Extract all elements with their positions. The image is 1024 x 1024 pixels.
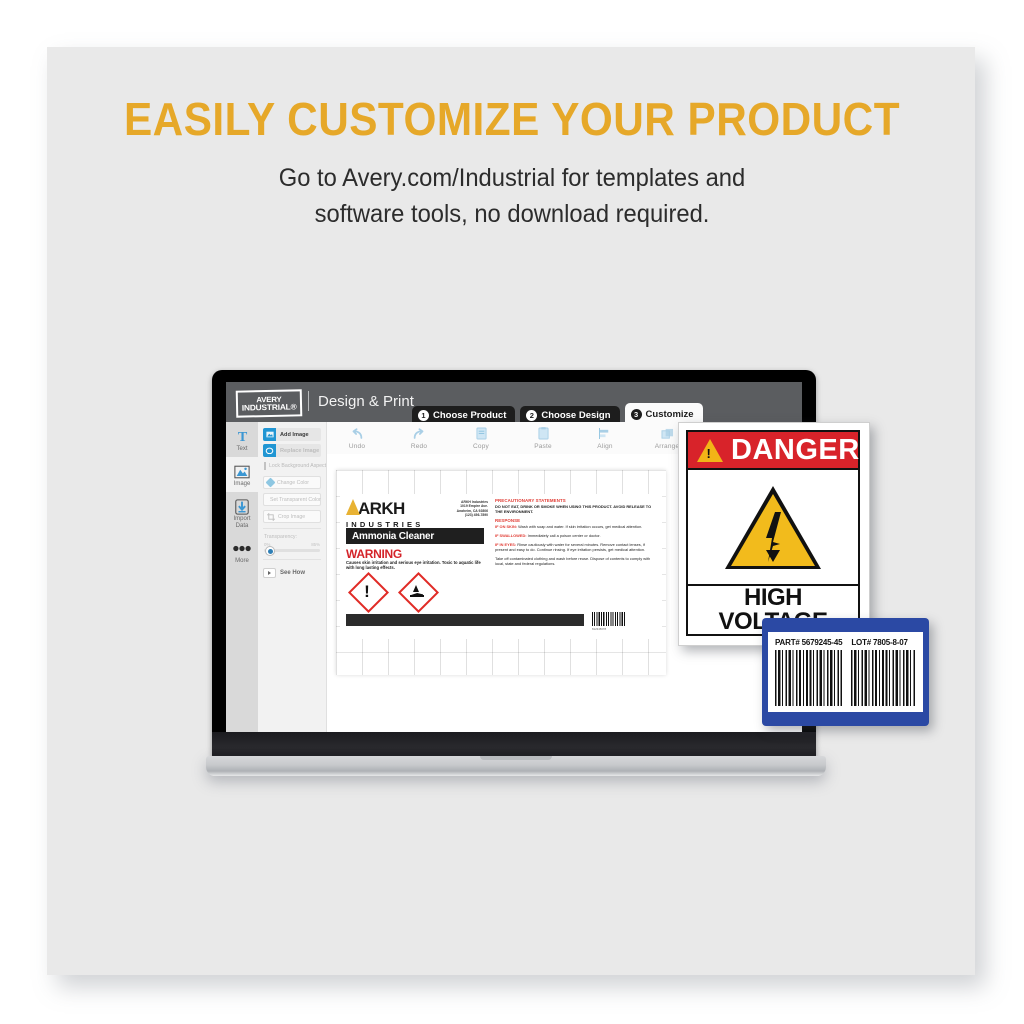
toolbar-redo[interactable]: Redo <box>397 427 441 450</box>
label-barcode <box>592 612 626 626</box>
more-dots-icon <box>226 539 258 558</box>
brand-name: ARKH <box>358 499 405 519</box>
label-artwork[interactable]: ARKH INDUSTRIES ARKH Industries 1019 Emp… <box>340 494 662 639</box>
lock-aspect-ratio-row[interactable]: Lock Background Aspect Ratio <box>264 462 321 470</box>
toolbar-redo-label: Redo <box>397 443 441 450</box>
svg-text:T: T <box>237 429 247 444</box>
set-transparent-color-button[interactable]: Set Transparent Color <box>263 493 321 506</box>
paste-page-icon <box>521 427 565 441</box>
color-swatch-icon <box>266 478 276 488</box>
avery-industrial-logo: AVERY INDUSTRIAL® <box>236 389 303 417</box>
precautionary-body: DO NOT EAT, DRINK OR SMOKE WHEN USING TH… <box>495 504 655 514</box>
crop-image-label: Crop Image <box>278 514 305 520</box>
barcode-label: PART# 5679245-45 LOT# 7805-8-07 <box>762 618 929 726</box>
toolbar-undo-label: Undo <box>335 443 379 450</box>
add-image-label: Add Image <box>276 432 309 438</box>
change-color-label: Change Color <box>277 480 309 486</box>
import-data-arrow-icon <box>226 497 258 516</box>
toolbar-copy[interactable]: Copy <box>459 427 503 450</box>
page-subtitle: Go to Avery.com/Industrial for templates… <box>26 160 999 232</box>
toolbar-copy-label: Copy <box>459 443 503 450</box>
properties-divider-2 <box>263 559 321 560</box>
tab-label-customize: Customize <box>646 409 694 420</box>
part-number-block: PART# 5679245-45 <box>775 638 842 706</box>
transparent-color-icon <box>265 497 270 502</box>
exclamation-glyph: ! <box>364 583 370 600</box>
replace-image-label: Replace Image <box>276 448 319 454</box>
see-how-label: See How <box>280 570 305 576</box>
danger-sign-label: DANGER HIGH VOLTAGE <box>678 422 870 646</box>
part-number-caption: PART# 5679245-45 <box>775 638 842 647</box>
lot-number-barcode <box>851 650 916 706</box>
rail-label-import-line1: Import <box>226 516 258 523</box>
label-footer-bar <box>346 614 584 626</box>
company-address: ARKH Industries 1019 Empire Ave. Anaheim… <box>436 500 488 518</box>
image-mountain-icon <box>226 462 258 481</box>
tab-number-2: 2 <box>526 410 537 421</box>
environmental-hazard-pictogram <box>400 574 434 608</box>
text-t-icon: T <box>226 427 258 446</box>
label-barcode-number: 812345678 <box>592 627 606 631</box>
electric-shock-hazard-icon <box>725 486 821 569</box>
crop-image-button[interactable]: Crop Image <box>263 510 321 523</box>
copy-page-icon <box>459 427 503 441</box>
danger-header-bar: DANGER <box>688 432 858 470</box>
tab-label-choose-design: Choose Design <box>541 410 610 421</box>
brand-logo: ARKH INDUSTRIES <box>346 498 423 529</box>
laptop-chin <box>212 732 816 758</box>
lot-number-block: LOT# 7805-8-07 <box>851 638 916 706</box>
add-image-button[interactable]: Add Image <box>263 428 321 441</box>
disposal-footer: Take off contaminated clothing and wash … <box>495 556 655 566</box>
tab-label-choose-product: Choose Product <box>433 410 506 421</box>
replace-image-icon <box>263 444 276 457</box>
part-number-barcode <box>775 650 842 706</box>
rail-label-text: Text <box>226 446 258 453</box>
tool-rail: T Text Image <box>226 422 258 732</box>
rail-label-image: Image <box>226 481 258 488</box>
transparency-label: Transparency: <box>264 534 321 540</box>
danger-sign-frame: DANGER HIGH VOLTAGE <box>686 430 860 636</box>
transparency-slider[interactable]: 0% 85% <box>264 546 320 554</box>
response-text-skin: Wash with soap and water. If skin irrita… <box>517 524 642 529</box>
response-item-eyes: IF IN EYES: Rinse cautiously with water … <box>495 542 655 552</box>
subtitle-line-2: software tools, no download required. <box>26 196 999 232</box>
properties-divider <box>263 528 321 529</box>
toolbar-undo[interactable]: Undo <box>335 427 379 450</box>
danger-symbol-area <box>688 470 858 586</box>
play-icon <box>263 568 276 578</box>
slider-knob[interactable] <box>265 546 275 556</box>
tab-number-1: 1 <box>418 410 429 421</box>
precautionary-heading: PRECAUTIONARY STATEMENTS <box>495 498 655 503</box>
tab-number-3: 3 <box>631 409 642 420</box>
align-icon <box>583 427 627 441</box>
toolbar-paste[interactable]: Paste <box>521 427 565 450</box>
crop-icon <box>267 508 275 526</box>
response-item-skin: IF ON SKIN: Wash with soap and water. If… <box>495 524 655 529</box>
address-line-4: (123) 456-7890 <box>436 513 488 517</box>
hazard-statement: Causes skin irritation and serious eye i… <box>346 560 488 571</box>
page-title: EASILY CUSTOMIZE YOUR PRODUCT <box>41 92 983 146</box>
redo-arrow-icon <box>397 427 441 441</box>
rail-item-text[interactable]: T Text <box>226 422 258 457</box>
image-properties-panel: Add Image Replace Image Lock Background … <box>258 422 327 732</box>
danger-line-1: HIGH <box>744 586 802 610</box>
toolbar-align[interactable]: Align <box>583 427 627 450</box>
promo-image: EASILY CUSTOMIZE YOUR PRODUCT Go to Aver… <box>0 0 1024 1024</box>
barcode-label-inner: PART# 5679245-45 LOT# 7805-8-07 <box>768 632 923 712</box>
change-color-button[interactable]: Change Color <box>263 476 321 489</box>
add-image-icon <box>263 428 276 441</box>
rail-label-more: More <box>226 558 258 565</box>
subtitle-line-1: Go to Avery.com/Industrial for templates… <box>26 160 999 196</box>
rail-label-import-line2: Data <box>226 523 258 530</box>
response-item-swallowed: IF SWALLOWED: Immediately call a poison … <box>495 533 655 538</box>
product-title-bar: Ammonia Cleaner <box>346 528 484 544</box>
lock-aspect-checkbox[interactable] <box>264 462 266 470</box>
transparency-max-value: 85% <box>311 542 320 547</box>
see-how-button[interactable]: See How <box>263 568 321 578</box>
brand-chevron-icon <box>346 499 360 515</box>
set-transparent-color-label: Set Transparent Color <box>270 497 321 503</box>
product-title: Ammonia Cleaner <box>352 531 434 542</box>
danger-signal-word: DANGER <box>731 434 860 467</box>
laptop-base <box>206 756 826 776</box>
response-lead-swallowed: IF SWALLOWED: <box>495 533 527 538</box>
app-title: Design & Print <box>318 393 414 410</box>
replace-image-button[interactable]: Replace Image <box>263 444 321 457</box>
response-lead-skin: IF ON SKIN: <box>495 524 517 529</box>
dead-fish-tree-icon <box>410 585 424 597</box>
response-text-swallowed: Immediately call a poison center or doct… <box>527 533 601 538</box>
toolbar-paste-label: Paste <box>521 443 565 450</box>
ghs-pictograms: ! <box>350 574 434 608</box>
warning-triangle-icon <box>697 439 723 462</box>
app-header: AVERY INDUSTRIAL® Design & Print 1 Choos… <box>226 382 802 422</box>
logo-line-2: INDUSTRIAL® <box>242 403 297 412</box>
exclamation-mark-pictogram: ! <box>350 574 384 608</box>
rail-item-more[interactable]: More <box>226 534 258 569</box>
toolbar-align-label: Align <box>583 443 627 450</box>
signal-word: WARNING <box>346 547 402 561</box>
label-sheet: ARKH INDUSTRIES ARKH Industries 1019 Emp… <box>336 470 666 675</box>
response-text-eyes: Rinse cautiously with water for several … <box>495 542 645 552</box>
rail-item-image[interactable]: Image <box>226 457 258 492</box>
precautionary-column: PRECAUTIONARY STATEMENTS DO NOT EAT, DRI… <box>495 498 655 570</box>
lot-number-caption: LOT# 7805-8-07 <box>851 638 916 647</box>
header-divider <box>308 391 309 411</box>
undo-arrow-icon <box>335 427 379 441</box>
response-heading: RESPONSE <box>495 518 655 523</box>
rail-item-import-data[interactable]: Import Data <box>226 492 258 534</box>
